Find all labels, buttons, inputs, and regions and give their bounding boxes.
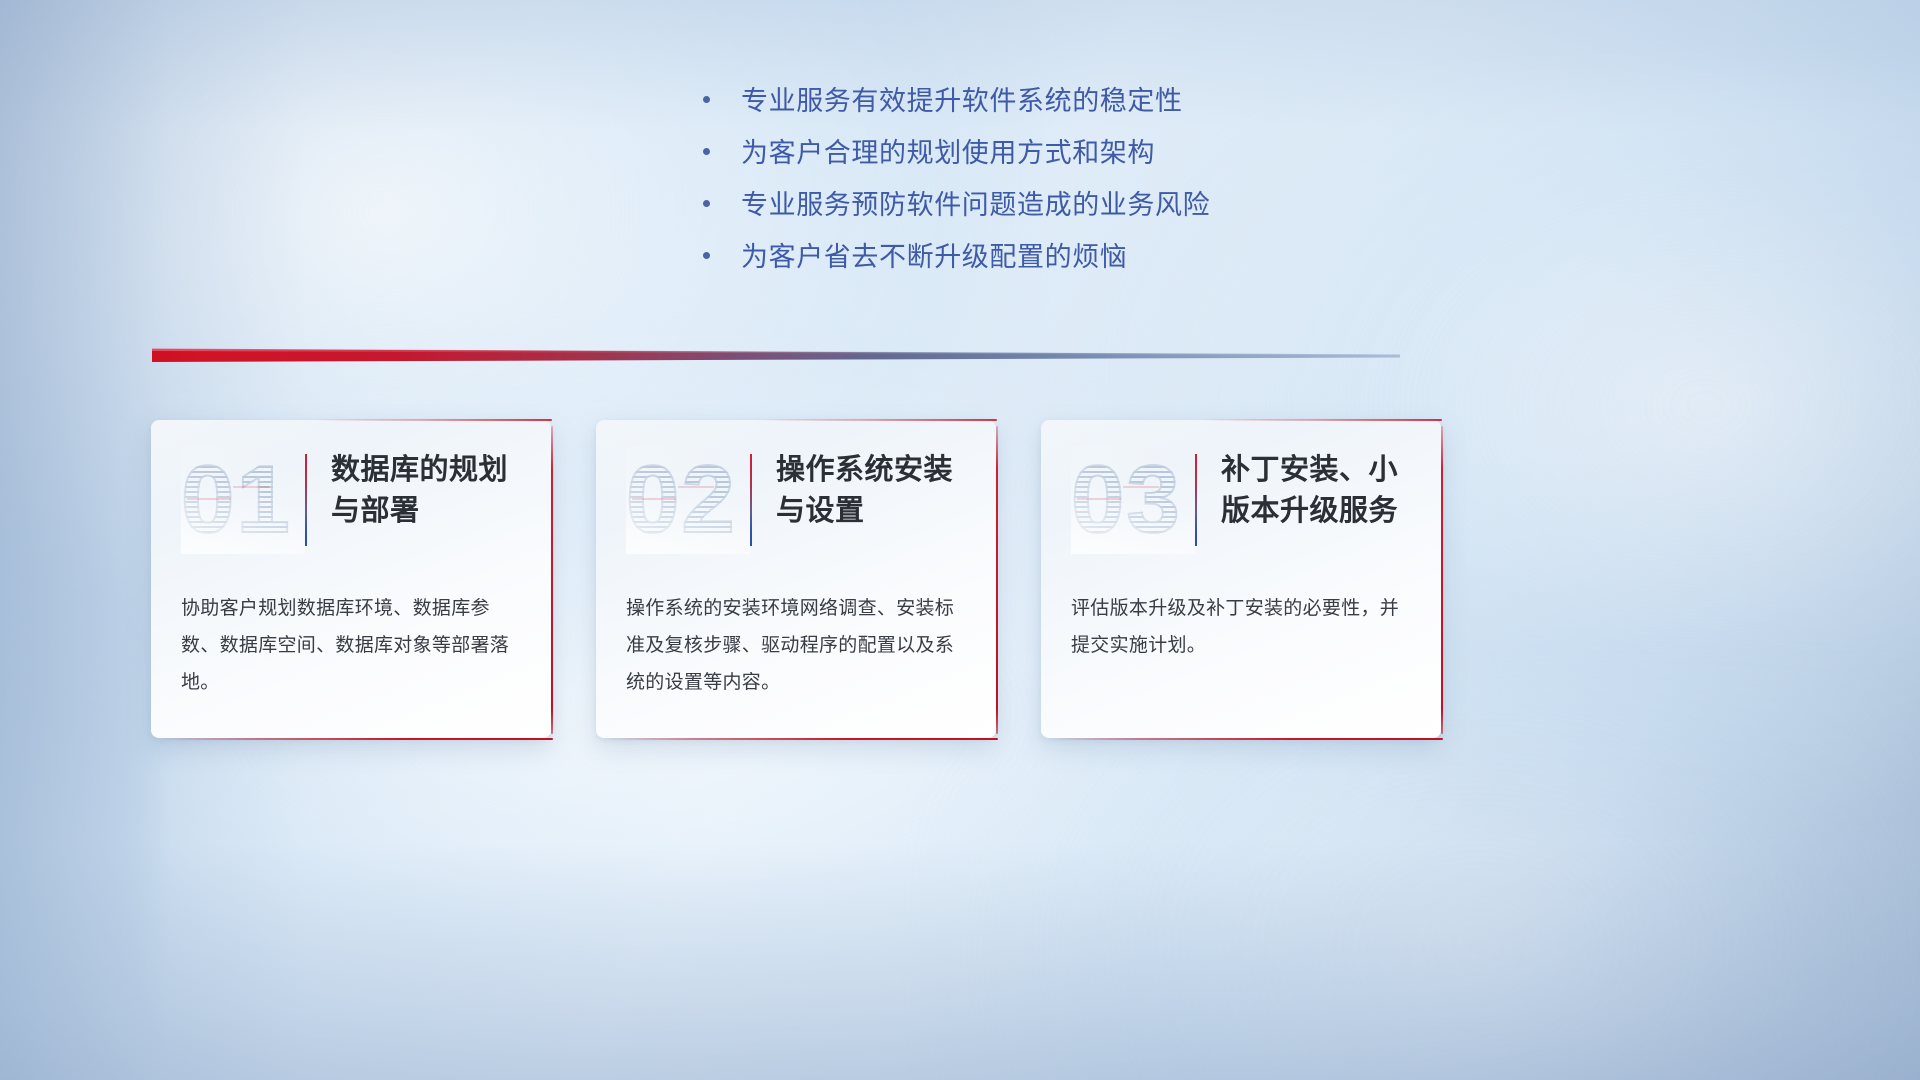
- service-card[interactable]: 01 数据库的规划与部署 协助客户规划数据库环境、数据库参数、数据库空间、数据库…: [151, 420, 551, 738]
- bullet-dot-icon: [703, 96, 710, 103]
- card-number-red-streak-2: [678, 486, 714, 488]
- card-number-text: 03: [1071, 446, 1195, 554]
- card-header: 03 补丁安装、小版本升级服务: [1041, 420, 1441, 570]
- benefit-bullet-list: 专业服务有效提升软件系统的稳定性 为客户合理的规划使用方式和架构 专业服务预防软…: [0, 88, 1920, 296]
- card-title: 数据库的规划与部署: [331, 450, 527, 532]
- card-number-text: 02: [626, 446, 750, 554]
- card-title: 操作系统安装与设置: [776, 450, 972, 532]
- list-item: 专业服务预防软件问题造成的业务风险: [703, 192, 1343, 244]
- card-header: 01 数据库的规划与部署: [151, 420, 551, 570]
- card-number-text: 01: [181, 446, 305, 554]
- card-header: 02 操作系统安装与设置: [596, 420, 996, 570]
- card-accent-bottom: [1051, 738, 1443, 740]
- divider-shape-icon: [152, 346, 1400, 370]
- bullet-text: 为客户合理的规划使用方式和架构: [741, 140, 1155, 167]
- card-title-rule: [1195, 454, 1197, 546]
- card-accent-bottom: [161, 738, 553, 740]
- service-card[interactable]: 03 补丁安装、小版本升级服务 评估版本升级及补丁安装的必要性，并提交实施计划。: [1041, 420, 1441, 738]
- list-item: 为客户省去不断升级配置的烦恼: [703, 244, 1343, 296]
- bullet-dot-icon: [703, 252, 710, 259]
- service-card[interactable]: 02 操作系统安装与设置 操作系统的安装环境网络调查、安装标准及复核步骤、驱动程…: [596, 420, 996, 738]
- bullet-text: 为客户省去不断升级配置的烦恼: [741, 244, 1127, 271]
- list-item: 为客户合理的规划使用方式和架构: [703, 140, 1343, 192]
- card-number-watermark: 02: [626, 446, 750, 554]
- background-vignette-bottom: [0, 842, 1920, 1080]
- card-title: 补丁安装、小版本升级服务: [1221, 450, 1417, 532]
- card-accent-right: [1441, 426, 1443, 734]
- card-description: 评估版本升级及补丁安装的必要性，并提交实施计划。: [1041, 590, 1441, 664]
- card-number-watermark: 03: [1071, 446, 1195, 554]
- card-number-watermark: 01: [181, 446, 305, 554]
- section-divider: [152, 346, 1400, 370]
- bullet-dot-icon: [703, 200, 710, 207]
- card-accent-bottom: [606, 738, 998, 740]
- card-accent-right: [551, 426, 553, 734]
- bullet-dot-icon: [703, 148, 710, 155]
- card-description: 协助客户规划数据库环境、数据库参数、数据库空间、数据库对象等部署落地。: [151, 590, 551, 701]
- card-number-red-streak-2: [1123, 486, 1159, 488]
- card-number-red-streak: [1077, 498, 1121, 500]
- service-card-row: 01 数据库的规划与部署 协助客户规划数据库环境、数据库参数、数据库空间、数据库…: [151, 420, 1571, 738]
- bullet-text: 专业服务有效提升软件系统的稳定性: [741, 88, 1183, 115]
- card-description: 操作系统的安装环境网络调查、安装标准及复核步骤、驱动程序的配置以及系统的设置等内…: [596, 590, 996, 701]
- slide-canvas: 专业服务有效提升软件系统的稳定性 为客户合理的规划使用方式和架构 专业服务预防软…: [0, 0, 1920, 1080]
- card-number-red-streak: [187, 498, 231, 500]
- list-item: 专业服务有效提升软件系统的稳定性: [703, 88, 1343, 140]
- card-number-red-streak-2: [233, 486, 269, 488]
- card-accent-right: [996, 426, 998, 734]
- card-number-red-streak: [632, 498, 676, 500]
- card-title-rule: [750, 454, 752, 546]
- card-title-rule: [305, 454, 307, 546]
- bullet-text: 专业服务预防软件问题造成的业务风险: [741, 192, 1210, 219]
